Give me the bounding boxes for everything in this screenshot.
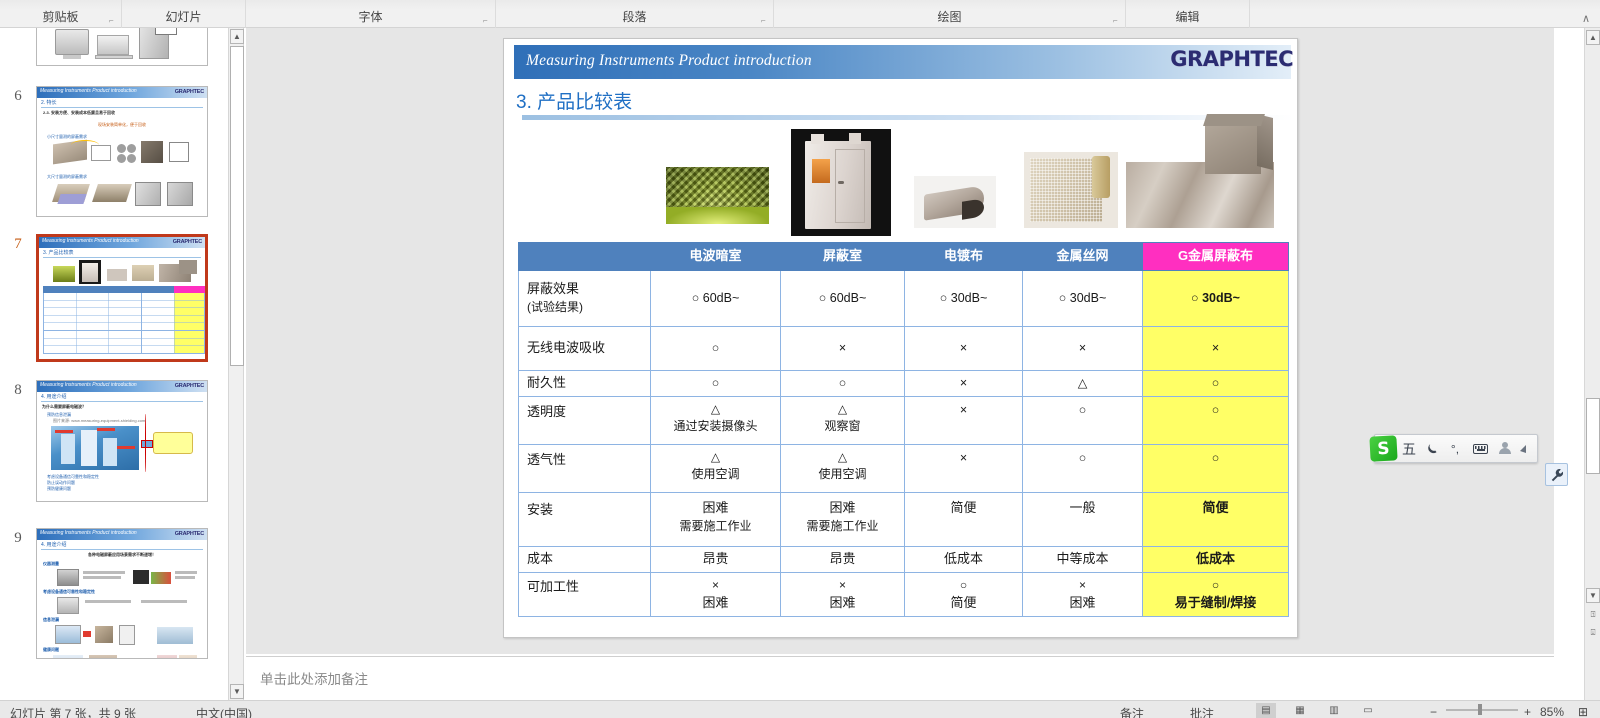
zoom-slider-knob[interactable] [1478, 704, 1482, 715]
mini-section-subtitle: 4. 用途介绍 [37, 392, 207, 400]
cell-highlight: 低成本 [1143, 546, 1289, 572]
cell: × 困难 [1023, 572, 1143, 616]
mini-header-title: Measuring Instruments Product introducti… [40, 382, 137, 388]
ribbon-group-font-label: 字体 [358, 8, 382, 28]
cell-text: 通过安装摄像头 [653, 418, 778, 435]
language-status[interactable]: 中文(中国) [196, 705, 252, 718]
cell: ○ 60dB~ [781, 271, 905, 327]
zoom-out-button[interactable]: − [1430, 705, 1437, 718]
cell-mark: ○ [692, 291, 700, 305]
mini-device-photo-2 [119, 625, 135, 645]
cell-text: 30dB~ [1070, 291, 1107, 305]
row-label-durability: 耐久性 [519, 371, 651, 397]
cell: 一般 [1023, 492, 1143, 546]
cell-mark: ○ [907, 577, 1020, 594]
thumbnail-canvas[interactable]: Measuring Instruments Product introducti… [36, 528, 208, 659]
view-normal-button[interactable]: ▤ [1256, 703, 1276, 718]
cell: △ 观察窗 [781, 396, 905, 444]
mat-underlay-shape [57, 194, 86, 204]
slide-section-title: 3. 产品比较表 [516, 87, 632, 114]
room-door-shape [835, 149, 865, 223]
scrollbar-thumb[interactable] [1586, 398, 1600, 474]
cell: △ [1023, 371, 1143, 397]
mini-brand-logo: GRAPHTEC [173, 239, 202, 245]
cell: ○ [1023, 444, 1143, 492]
mini-textline-6 [141, 600, 187, 603]
mini-room-body [82, 263, 98, 282]
thumbnail-slide-8[interactable]: 8 Measuring Instruments Product introduc… [0, 380, 228, 502]
mini-cloth-photo [107, 269, 127, 281]
ribbon-group-drawing-label: 绘图 [937, 8, 961, 28]
wire-mesh-photo [1024, 152, 1118, 228]
cell: ○ 简便 [905, 572, 1023, 616]
mini-section-subtitle: 3. 产品比较表 [39, 248, 205, 256]
row-label-processability: 可加工性 [519, 572, 651, 616]
ribbon-group-clipboard-label: 剪贴板 [42, 8, 78, 28]
thumbnail-slide-9[interactable]: 9 Measuring Instruments Product introduc… [0, 528, 228, 659]
cell: △ 使用空调 [781, 444, 905, 492]
mini-network-photo [55, 625, 81, 644]
cell: 困难 需要施工作业 [781, 492, 905, 546]
mini-brand-logo: GRAPHTEC [175, 89, 204, 95]
mini-slide-header: Measuring Instruments Product introducti… [37, 381, 207, 392]
mini-cloth-photo-2 [95, 626, 113, 643]
mini-redlabel-1 [55, 430, 73, 433]
cell-text: 30dB~ [951, 291, 988, 305]
table-row: 透气性 △ 使用空调 △ 使用空调 × ○ ○ [519, 444, 1289, 492]
row-label-cost: 成本 [519, 546, 651, 572]
view-slideshow-button[interactable]: ▭ [1358, 703, 1378, 718]
cell-mark: × [783, 577, 902, 594]
cell-text: 困难 [1025, 594, 1140, 613]
table-row: 耐久性 ○ ○ × △ ○ [519, 371, 1289, 397]
column-header-g-shielding-cloth: G金属屏蔽布 [1143, 243, 1289, 271]
cell-mark: × [653, 577, 778, 594]
mesh-roll-shape [1092, 156, 1110, 198]
cell: 简便 [905, 492, 1023, 546]
mini-textline-2 [83, 576, 121, 579]
mini-slide-header: Measuring Instruments Product introducti… [37, 87, 207, 98]
cell-text: 困难 [783, 594, 902, 613]
row-label-installation: 安装 [519, 492, 651, 546]
cell-text: 60dB~ [703, 291, 740, 305]
table-row: 无线电波吸收 ○ × × × × [519, 327, 1289, 371]
cell: × [905, 444, 1023, 492]
cell: △ 通过安装摄像头 [651, 396, 781, 444]
cell: × [905, 371, 1023, 397]
user-account-icon[interactable] [1493, 434, 1517, 463]
cell: × 困难 [781, 572, 905, 616]
mini-tent-photo [179, 260, 197, 274]
box-open-shape [135, 182, 161, 206]
slide-banner-title: Measuring Instruments Product introducti… [526, 52, 812, 70]
ribbon-group-editing: 编辑 [1126, 0, 1250, 28]
mini-board-photo [151, 572, 171, 584]
mini-building-1 [61, 434, 75, 464]
thumbnail-number: 8 [0, 380, 36, 399]
wire-cube-shape [169, 142, 189, 162]
mini-instrument-photo [57, 569, 79, 586]
ring-shape-1 [117, 144, 126, 153]
cell-highlight: × [1143, 327, 1289, 371]
mini-table-grid [43, 293, 205, 354]
mini-textline-1 [83, 571, 125, 574]
thumbnail-canvas[interactable]: Measuring Instruments Product introducti… [36, 380, 208, 502]
room-vent-right-shape [849, 133, 861, 144]
cell: 昂贵 [781, 546, 905, 572]
cell-mark: ○ [819, 291, 827, 305]
shielded-room-photo [791, 129, 891, 236]
previous-slide-icon[interactable]: ⍐ [1586, 608, 1600, 623]
row-label-main: 屏蔽效果 [527, 281, 579, 296]
view-slide-sorter-button[interactable]: ▦ [1290, 703, 1310, 718]
laptop-base-shape [95, 55, 133, 59]
cell-text: 使用空调 [783, 466, 902, 483]
mini-arrow-shape [141, 440, 153, 448]
moon-icon[interactable] [1421, 434, 1443, 463]
sogou-logo-icon[interactable]: S [1369, 435, 1397, 461]
mini-caption: 现场安装简单化，便于回收 [37, 116, 207, 128]
box-closed-shape [167, 182, 193, 206]
table-row: 透明度 △ 通过安装摄像头 △ 观察窗 × ○ ○ [519, 396, 1289, 444]
notes-toggle-button[interactable]: 备注 [1120, 705, 1144, 718]
mini-header-title: Measuring Instruments Product introducti… [40, 530, 137, 536]
cell: × [905, 327, 1023, 371]
cell-text: 60dB~ [830, 291, 867, 305]
cell: × [905, 396, 1023, 444]
room-window-shape [812, 159, 830, 183]
scroll-up-icon[interactable]: ▲ [230, 29, 244, 44]
cell: × [1023, 327, 1143, 371]
cell-mark: 困难 [783, 499, 902, 518]
table-header-row: 电波暗室 屏蔽室 电镀布 金属丝网 G金属屏蔽布 [519, 243, 1289, 271]
comments-toggle-button[interactable]: 批注 [1190, 705, 1214, 718]
mini-slide-header: Measuring Instruments Product introducti… [37, 529, 207, 540]
row-label-breathability: 透气性 [519, 444, 651, 492]
ring-shape-4 [127, 154, 136, 163]
thumbnail-slide-5[interactable] [0, 28, 228, 66]
mini-building-2 [81, 430, 97, 466]
table-corner-cell [519, 243, 651, 271]
cell-text: 困难 [653, 594, 778, 613]
thumbnail-slide-6[interactable]: 6 Measuring Instruments Product introduc… [0, 86, 228, 217]
zoom-level-label[interactable]: 85% [1540, 705, 1564, 718]
slide-thumbnail-pane[interactable]: 6 Measuring Instruments Product introduc… [0, 28, 228, 700]
mini-anechoic-photo [53, 266, 75, 282]
mini-diagram-photo [157, 655, 177, 659]
slide-editing-area[interactable]: Measuring Instruments Product introducti… [246, 28, 1554, 654]
cell: ○ 30dB~ [905, 271, 1023, 327]
cell-mark: ○ [1191, 291, 1199, 305]
slide-area-scrollbar[interactable]: ▲ ▼ ⍐ ⍗ [1584, 28, 1600, 700]
fabric-fold-shape [141, 141, 163, 163]
product-photo-strip [504, 124, 1299, 239]
ribbon-group-font: 字体 ⌐ [246, 0, 496, 28]
cell: ○ [781, 371, 905, 397]
thumbnail-number: 6 [0, 86, 36, 105]
zoom-slider-track[interactable] [1446, 709, 1518, 711]
mini-phone-photo [89, 655, 117, 659]
ribbon-group-paragraph-label: 段落 [622, 8, 646, 28]
monitor-stand-shape [63, 55, 81, 59]
mini-mesh-photo [132, 265, 154, 281]
cell: ○ [1023, 396, 1143, 444]
mini-divider [41, 107, 203, 108]
cell-mark: 困难 [653, 499, 778, 518]
tent-front-shape [1205, 122, 1261, 174]
thumbnail-canvas[interactable]: Measuring Instruments Product introducti… [36, 86, 208, 217]
row-label-sub: (试验结果) [527, 299, 648, 316]
mini-redlabel-2 [97, 428, 115, 431]
slide-count-status[interactable]: 幻灯片 第 7 张，共 9 张 [10, 705, 136, 718]
cell-mark: × [1025, 577, 1140, 594]
room-handle-shape [838, 181, 844, 184]
thumbnail-canvas[interactable] [36, 28, 208, 66]
wrench-icon[interactable] [1545, 463, 1568, 486]
next-slide-icon[interactable]: ⍗ [1586, 626, 1600, 641]
ribbon-group-editing-label: 编辑 [1175, 8, 1199, 28]
mini-building-3 [103, 438, 117, 466]
table-row: 安装 困难 需要施工作业 困难 需要施工作业 简便 一般 简便 [519, 492, 1289, 546]
cell-text: 30dB~ [1202, 291, 1240, 305]
ribbon-group-slides: 幻灯片 [122, 0, 246, 28]
graphtec-logo: GRAPHTEC [1170, 47, 1293, 71]
mini-divider [41, 549, 203, 550]
thumbnail-number: 7 [0, 234, 36, 253]
active-slide-canvas[interactable]: Measuring Instruments Product introducti… [503, 38, 1298, 638]
thumbnail-slide-7[interactable]: 7 Measuring Instruments Product introduc… [0, 234, 228, 362]
column-header-shielded-room: 屏蔽室 [781, 243, 905, 271]
keyboard-icon[interactable] [1467, 434, 1493, 463]
mini-car-photo [157, 627, 193, 644]
ime-mode-label[interactable]: 五 [1397, 434, 1421, 463]
anechoic-chamber-photo [666, 167, 769, 224]
mini-slide-header: Measuring Instruments Product introducti… [39, 237, 205, 248]
mini-people-photo [53, 655, 83, 659]
mini-bullet-4: 预防健康问题 [37, 486, 207, 492]
mini-redlabel-3 [117, 446, 135, 449]
mini-note-box [153, 432, 193, 454]
cell-mark: ○ [940, 291, 948, 305]
scroll-down-icon[interactable]: ▼ [1586, 588, 1600, 603]
tent-top-shape [1203, 114, 1265, 126]
mat-shape-2 [92, 184, 132, 202]
table-row: 屏蔽效果 (试验结果) ○ 60dB~ ○ 60dB~ ○ 30dB~ [519, 271, 1289, 327]
zoom-in-button[interactable]: + [1524, 705, 1531, 718]
cell: ○ 60dB~ [651, 271, 781, 327]
punctuation-toggle-icon[interactable]: °, [1443, 434, 1467, 463]
mini-divider [43, 257, 201, 258]
drawing-dialog-launcher-icon[interactable]: ⌐ [1113, 16, 1122, 25]
column-header-wire-mesh: 金属丝网 [1023, 243, 1143, 271]
cell-highlight: ○ 30dB~ [1143, 271, 1289, 327]
mini-red-arrow [83, 631, 91, 637]
cell: × 困难 [651, 572, 781, 616]
cell: 低成本 [905, 546, 1023, 572]
conductive-cloth-photo [914, 176, 996, 228]
laptop-shape [97, 35, 129, 55]
mini-section-1: 仪器测量 [37, 558, 207, 567]
cell-mark: △ [653, 449, 778, 466]
mini-brand-logo: GRAPHTEC [175, 383, 204, 389]
scrollbar-thumb[interactable] [230, 46, 244, 366]
scroll-up-icon[interactable]: ▲ [1586, 30, 1600, 45]
cell-highlight: ○ [1143, 444, 1289, 492]
paragraph-dialog-launcher-icon[interactable]: ⌐ [761, 16, 770, 25]
cell-text: 易于缝制/焊接 [1145, 594, 1286, 613]
column-header-plated-cloth: 电镀布 [905, 243, 1023, 271]
cell-text: 需要施工作业 [653, 518, 778, 535]
cell: ○ 30dB~ [1023, 271, 1143, 327]
sogou-ime-toolbar[interactable]: S 五 °, [1374, 434, 1538, 463]
ribbon-group-drawing: 绘图 ⌐ [774, 0, 1126, 28]
ribbon-group-slides-label: 幻灯片 [165, 8, 201, 28]
scroll-down-icon[interactable]: ▼ [230, 684, 244, 699]
room-vent-left-shape [811, 134, 824, 144]
mini-person-photo [179, 655, 197, 659]
cell-mark: △ [783, 449, 902, 466]
row-label-radio-wave-absorption: 无线电波吸收 [519, 327, 651, 371]
cell-highlight: ○ 易于缝制/焊接 [1143, 572, 1289, 616]
cell-text: 简便 [907, 594, 1020, 613]
row-label-shielding-effect: 屏蔽效果 (试验结果) [519, 271, 651, 327]
mini-label-small: 小尺寸量测的屏蔽需求 [37, 128, 207, 140]
cell-text: 使用空调 [653, 466, 778, 483]
cell: △ 使用空调 [651, 444, 781, 492]
ribbon-bottom-strip: 剪贴板 ⌐ 幻灯片 字体 ⌐ 段落 ⌐ 绘图 ⌐ 编辑 ∧ [0, 0, 1600, 28]
collapse-ribbon-icon[interactable]: ∧ [1582, 12, 1590, 25]
ring-shape-3 [117, 154, 126, 163]
thumbnail-number: 9 [0, 528, 36, 547]
cell-highlight: ○ [1143, 396, 1289, 444]
cell: 中等成本 [1023, 546, 1143, 572]
mini-textline-3 [175, 571, 197, 574]
table-row: 可加工性 × 困难 × 困难 ○ 简便 × 困难 [519, 572, 1289, 616]
mini-brand-logo: GRAPHTEC [175, 531, 204, 537]
monitor-shape [55, 29, 89, 55]
shielding-tent-photo [1199, 114, 1277, 182]
table-row: 成本 昂贵 昂贵 低成本 中等成本 低成本 [519, 546, 1289, 572]
view-reading-button[interactable]: ▥ [1324, 703, 1344, 718]
cell-highlight: ○ [1143, 371, 1289, 397]
cell-text: 需要施工作业 [783, 518, 902, 535]
ring-shape-2 [127, 144, 136, 153]
arrow-arc-shape [71, 140, 99, 150]
cloth-rolled-edge-shape [962, 198, 984, 219]
font-dialog-launcher-icon[interactable]: ⌐ [483, 16, 492, 25]
mini-header-title: Measuring Instruments Product introducti… [42, 238, 139, 244]
thumbnail-canvas-selected[interactable]: Measuring Instruments Product introducti… [36, 234, 208, 362]
fit-to-window-icon[interactable]: ⊞ [1578, 705, 1588, 718]
column-header-anechoic: 电波暗室 [651, 243, 781, 271]
ribbon-group-paragraph: 段落 ⌐ [496, 0, 774, 28]
section-underline-bar [522, 115, 1294, 120]
row-label-transparency: 透明度 [519, 396, 651, 444]
ribbon-group-clipboard: 剪贴板 ⌐ [0, 0, 122, 28]
cell: ○ [651, 327, 781, 371]
clipboard-dialog-launcher-icon[interactable]: ⌐ [109, 16, 118, 25]
callout-shape [155, 28, 177, 35]
cell-mark: ○ [1145, 577, 1286, 594]
mini-textline-4 [175, 576, 195, 579]
notes-pane[interactable]: 单击此处添加备注 [246, 656, 1554, 700]
cell-mark: ○ [1059, 291, 1067, 305]
cell-mark: △ [653, 401, 778, 418]
mini-room-photo-2 [57, 597, 79, 614]
mini-divider [41, 401, 203, 402]
cell-mark: △ [783, 401, 902, 418]
mini-textline-5 [85, 600, 131, 603]
cell: 困难 需要施工作业 [651, 492, 781, 546]
mini-bullet-1: 预防信息泄漏 [37, 410, 207, 418]
status-bar[interactable]: 幻灯片 第 7 张，共 9 张 中文(中国) 备注 批注 ▤ ▦ ▥ ▭ − +… [0, 700, 1600, 718]
thumbnail-pane-scrollbar[interactable]: ▲ ▼ [228, 28, 244, 700]
ime-menu-icon[interactable] [1517, 434, 1533, 463]
product-comparison-table[interactable]: 电波暗室 屏蔽室 电镀布 金属丝网 G金属屏蔽布 屏蔽效果 (试验结果) ○ [518, 242, 1289, 617]
cell-text: 观察窗 [783, 418, 902, 435]
mini-device-photo [133, 570, 149, 584]
mini-header-title: Measuring Instruments Product introducti… [40, 88, 137, 94]
mini-table-header-highlight [174, 286, 205, 293]
notes-placeholder[interactable]: 单击此处添加备注 [260, 668, 368, 688]
cell: 昂贵 [651, 546, 781, 572]
cell-highlight: 简便 [1143, 492, 1289, 546]
cell: ○ [651, 371, 781, 397]
mini-section-subtitle: 4. 用途介绍 [37, 540, 207, 548]
cell: × [781, 327, 905, 371]
mini-section-subtitle: 2. 特长 [37, 98, 207, 106]
